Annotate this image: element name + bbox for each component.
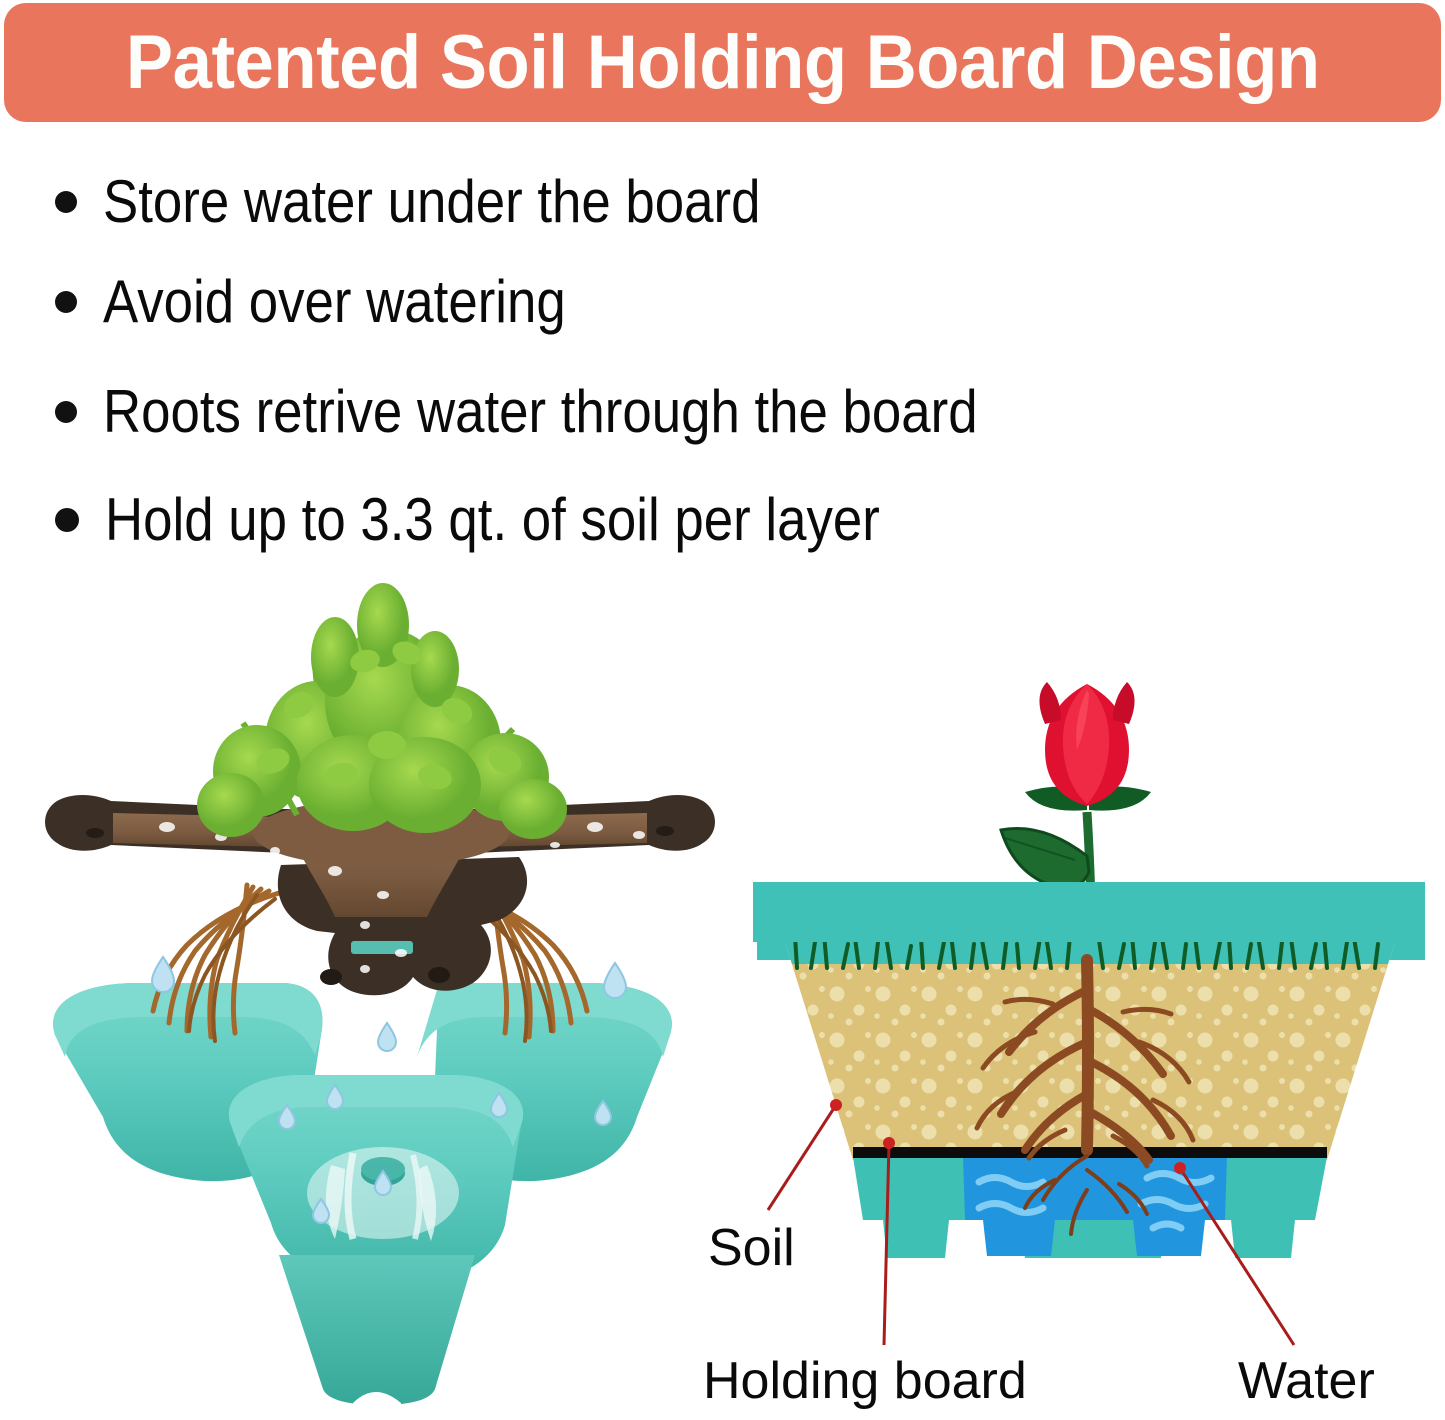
header-banner: Patented Soil Holding Board Design xyxy=(4,3,1441,122)
callout-label-soil: Soil xyxy=(708,1222,795,1274)
bullet-dot-icon xyxy=(55,401,77,423)
list-item: Store water under the board xyxy=(55,172,850,232)
cross-section-diagram xyxy=(735,660,1445,1415)
plant-foliage xyxy=(197,583,567,839)
list-item: Roots retrive water through the board xyxy=(55,382,1097,442)
bullet-label: Store water under the board xyxy=(103,172,760,232)
bullet-dot-icon xyxy=(55,508,79,532)
bullet-label: Avoid over watering xyxy=(103,272,566,332)
planter-illustration xyxy=(35,565,725,1415)
pot-cross-section-illustration xyxy=(735,660,1445,1415)
product-photo-stackable-planter xyxy=(35,565,725,1415)
bullet-label: Roots retrive water through the board xyxy=(103,382,978,442)
list-item: Avoid over watering xyxy=(55,272,629,332)
page-title: Patented Soil Holding Board Design xyxy=(126,25,1320,101)
list-item: Hold up to 3.3 qt. of soil per layer xyxy=(55,490,986,550)
bullet-dot-icon xyxy=(55,291,77,313)
callout-label-water: Water xyxy=(1238,1355,1375,1407)
callout-label-holding-board: Holding board xyxy=(703,1355,1027,1407)
bullet-dot-icon xyxy=(55,191,77,213)
bullet-label: Hold up to 3.3 qt. of soil per layer xyxy=(105,490,880,550)
